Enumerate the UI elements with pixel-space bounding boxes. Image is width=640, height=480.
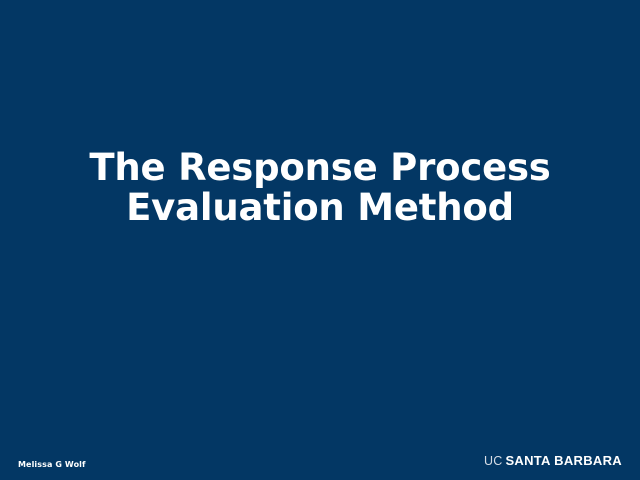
slide-title: The Response Process Evaluation Method <box>0 148 640 228</box>
author-credit: Melissa G Wolf <box>18 460 86 469</box>
slide-footer: Melissa G Wolf UCSANTA BARBARA <box>0 440 640 480</box>
slide-title-line-2: Evaluation Method <box>40 188 600 228</box>
logo-campus-name: SANTA BARBARA <box>505 453 622 468</box>
uc-santa-barbara-logo: UCSANTA BARBARA <box>484 454 622 468</box>
logo-uc-prefix: UC <box>484 454 502 468</box>
presentation-slide: The Response Process Evaluation Method M… <box>0 0 640 480</box>
slide-title-line-1: The Response Process <box>40 148 600 188</box>
